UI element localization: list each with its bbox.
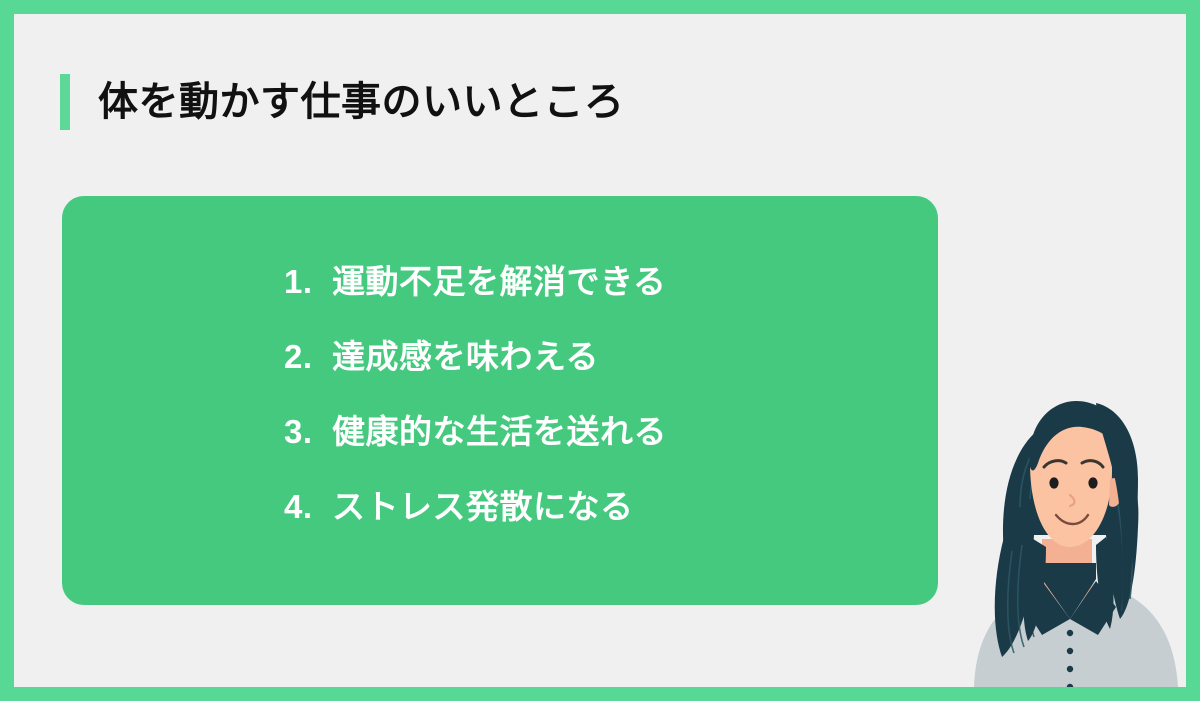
- slide-canvas: 体を動かす仕事のいいところ 1. 運動不足を解消できる 2. 達成感を味わえる …: [14, 14, 1186, 687]
- list-item-number: 3.: [284, 394, 332, 469]
- page-title-text: 体を動かす仕事のいいところ: [98, 82, 625, 122]
- list-item: 4. ストレス発散になる: [284, 469, 667, 544]
- benefits-card: 1. 運動不足を解消できる 2. 達成感を味わえる 3. 健康的な生活を送れる …: [62, 196, 938, 605]
- eye-right: [1088, 477, 1097, 488]
- slide-frame: 体を動かす仕事のいいところ 1. 運動不足を解消できる 2. 達成感を味わえる …: [0, 0, 1200, 701]
- title-accent-bar: [60, 74, 70, 130]
- smiling-woman-illustration: [946, 367, 1186, 687]
- list-item: 1. 運動不足を解消できる: [284, 244, 667, 319]
- list-item-number: 2.: [284, 319, 332, 394]
- list-item: 3. 健康的な生活を送れる: [284, 394, 667, 469]
- list-item: 2. 達成感を味わえる: [284, 319, 667, 394]
- page-title: 体を動かす仕事のいいところ: [60, 72, 625, 132]
- list-item-number: 1.: [284, 244, 332, 319]
- eye-left: [1049, 477, 1058, 488]
- list-item-label: 健康的な生活を送れる: [332, 394, 667, 469]
- benefits-list: 1. 運動不足を解消できる 2. 達成感を味わえる 3. 健康的な生活を送れる …: [284, 244, 667, 544]
- list-item-label: ストレス発散になる: [332, 469, 634, 544]
- list-item-number: 4.: [284, 469, 332, 544]
- woman-figure-svg: [946, 367, 1186, 687]
- list-item-label: 達成感を味わえる: [332, 319, 599, 394]
- list-item-label: 運動不足を解消できる: [332, 244, 666, 319]
